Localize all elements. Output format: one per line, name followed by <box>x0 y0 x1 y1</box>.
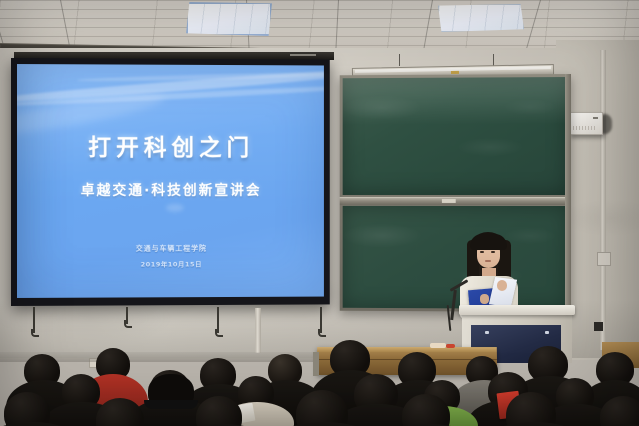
presenter <box>458 232 520 312</box>
speaker-vent <box>573 126 595 130</box>
blackboard-slide-rail[interactable] <box>340 197 571 205</box>
presenter-hair-front <box>470 234 507 250</box>
presenter-hand-right <box>497 280 507 291</box>
blackboard-upper-panel <box>343 77 568 195</box>
wall-hook <box>126 307 128 324</box>
presenter-hand-left <box>480 294 489 304</box>
audience-head <box>4 392 50 426</box>
rail-handle[interactable] <box>442 199 456 203</box>
lamp-label <box>451 71 459 74</box>
wall-speaker-box <box>569 112 603 135</box>
presentation-slide: 打开科创之门 卓越交通·科技创新宣讲会 交通与车辆工程学院 2019年10月15… <box>17 64 324 298</box>
ceiling-light-panel-right <box>438 4 524 32</box>
screen-roller-highlight <box>290 54 316 56</box>
presenter-eye-left <box>480 251 484 253</box>
speaker-led-icon <box>593 117 598 119</box>
ceiling-light-panel-left <box>186 2 272 36</box>
projection-screen[interactable]: 打开科创之门 卓越交通·科技创新宣讲会 交通与车辆工程学院 2019年10月15… <box>11 58 330 306</box>
presenter-mouth <box>485 260 491 262</box>
conduit-junction-box <box>597 252 611 266</box>
presenter-eye-right <box>491 251 495 253</box>
blackboard-right-edge <box>565 74 571 312</box>
lecture-hall-photo: 打开科创之门 卓越交通·科技创新宣讲会 交通与车辆工程学院 2019年10月15… <box>0 0 639 426</box>
lamp-suspension-rod <box>493 54 494 66</box>
slide-vignette <box>17 64 324 298</box>
audience-cap-brim <box>144 400 198 409</box>
blackboard <box>340 74 571 312</box>
podium-desktop <box>459 305 575 315</box>
electrical-conduit-pipe <box>600 50 606 350</box>
audience <box>0 330 639 426</box>
chalk-dust <box>343 77 568 195</box>
lamp-suspension-rod <box>399 54 400 66</box>
